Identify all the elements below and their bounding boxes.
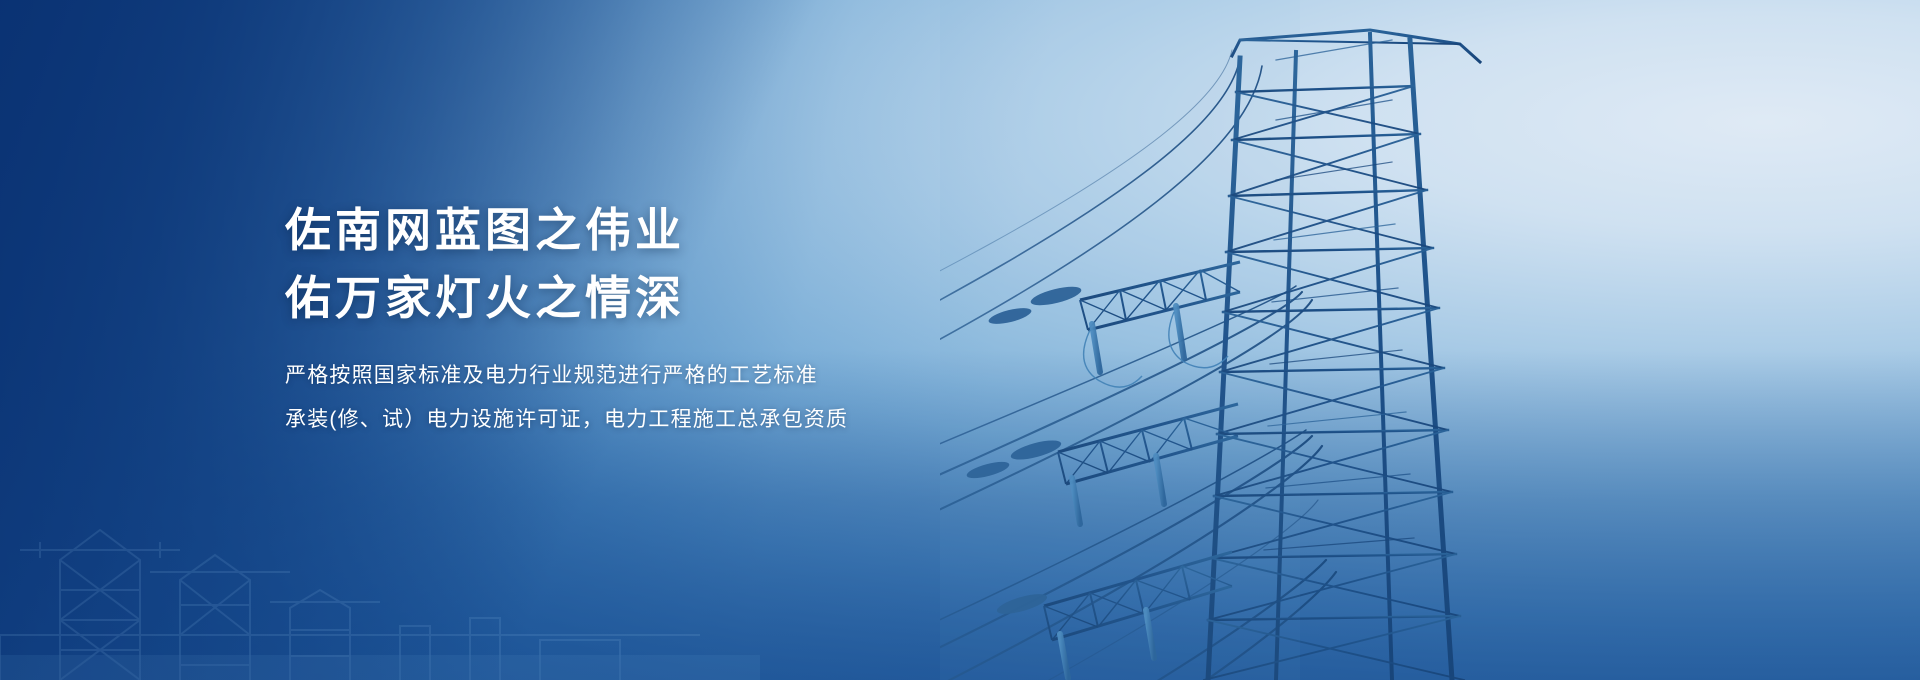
subtitle-line-2: 承装(修、试）电力设施许可证，电力工程施工总承包资质 — [285, 398, 1065, 442]
hero-banner: 佐南网蓝图之伟业 佑万家灯火之情深 严格按照国家标准及电力行业规范进行严格的工艺… — [0, 0, 1920, 680]
subtitle-line-1: 严格按照国家标准及电力行业规范进行严格的工艺标准 — [285, 354, 1065, 398]
hero-copy: 佐南网蓝图之伟业 佑万家灯火之情深 严格按照国家标准及电力行业规范进行严格的工艺… — [285, 196, 1065, 442]
headline-line-1: 佐南网蓝图之伟业 — [285, 196, 1065, 264]
headline-line-2: 佑万家灯火之情深 — [285, 264, 1065, 332]
transmission-tower-photo — [940, 0, 1920, 680]
ghost-substation-silhouette — [0, 430, 760, 680]
hero-subtitle: 严格按照国家标准及电力行业规范进行严格的工艺标准 承装(修、试）电力设施许可证，… — [285, 354, 1065, 442]
